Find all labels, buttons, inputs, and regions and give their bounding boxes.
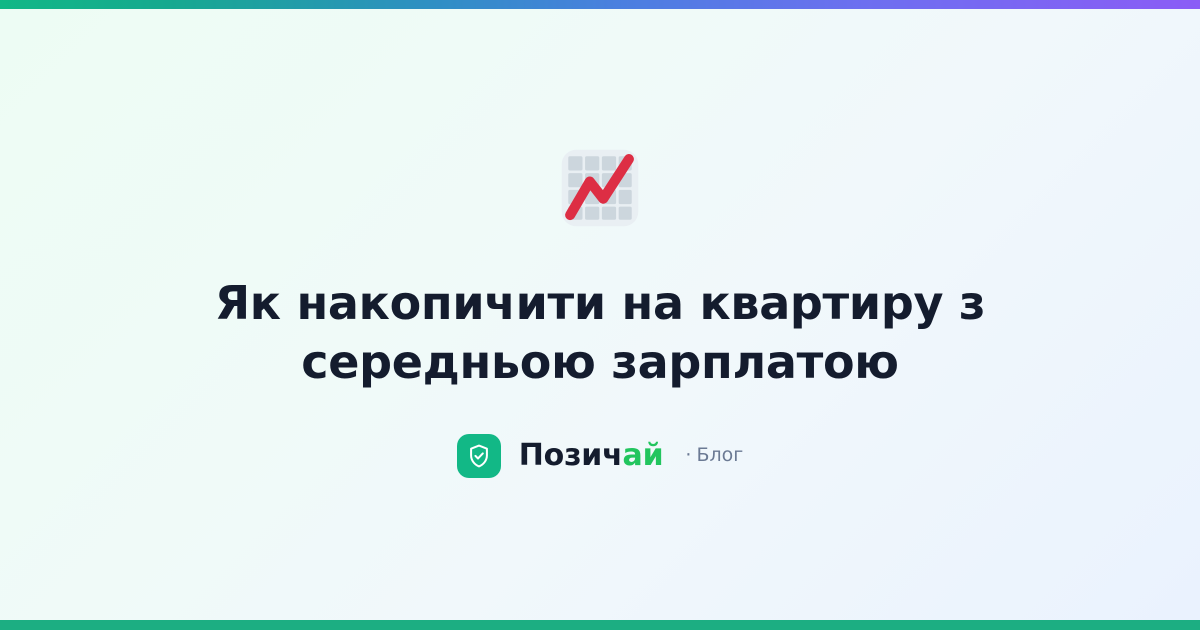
card-content: Як накопичити на квартиру з середньою за… [70,146,1130,478]
top-gradient-bar [0,0,1200,9]
brand-name-dark: Позич [519,438,623,473]
brand-name-accent: ай [623,438,664,473]
brand-section-label: Блог [696,444,743,466]
bottom-accent-bar [0,620,1200,630]
separator-dot: · [685,444,691,466]
chart-increasing-emoji [558,146,642,230]
og-preview-card: Як накопичити на квартиру з середньою за… [0,0,1200,630]
page-title: Як накопичити на квартиру з середньою за… [120,274,1080,392]
brand-section[interactable]: ·Блог [685,446,743,465]
shield-check-icon[interactable] [457,434,501,478]
brand-row[interactable]: Позичай ·Блог [457,434,744,478]
brand-name[interactable]: Позичай [519,441,664,471]
